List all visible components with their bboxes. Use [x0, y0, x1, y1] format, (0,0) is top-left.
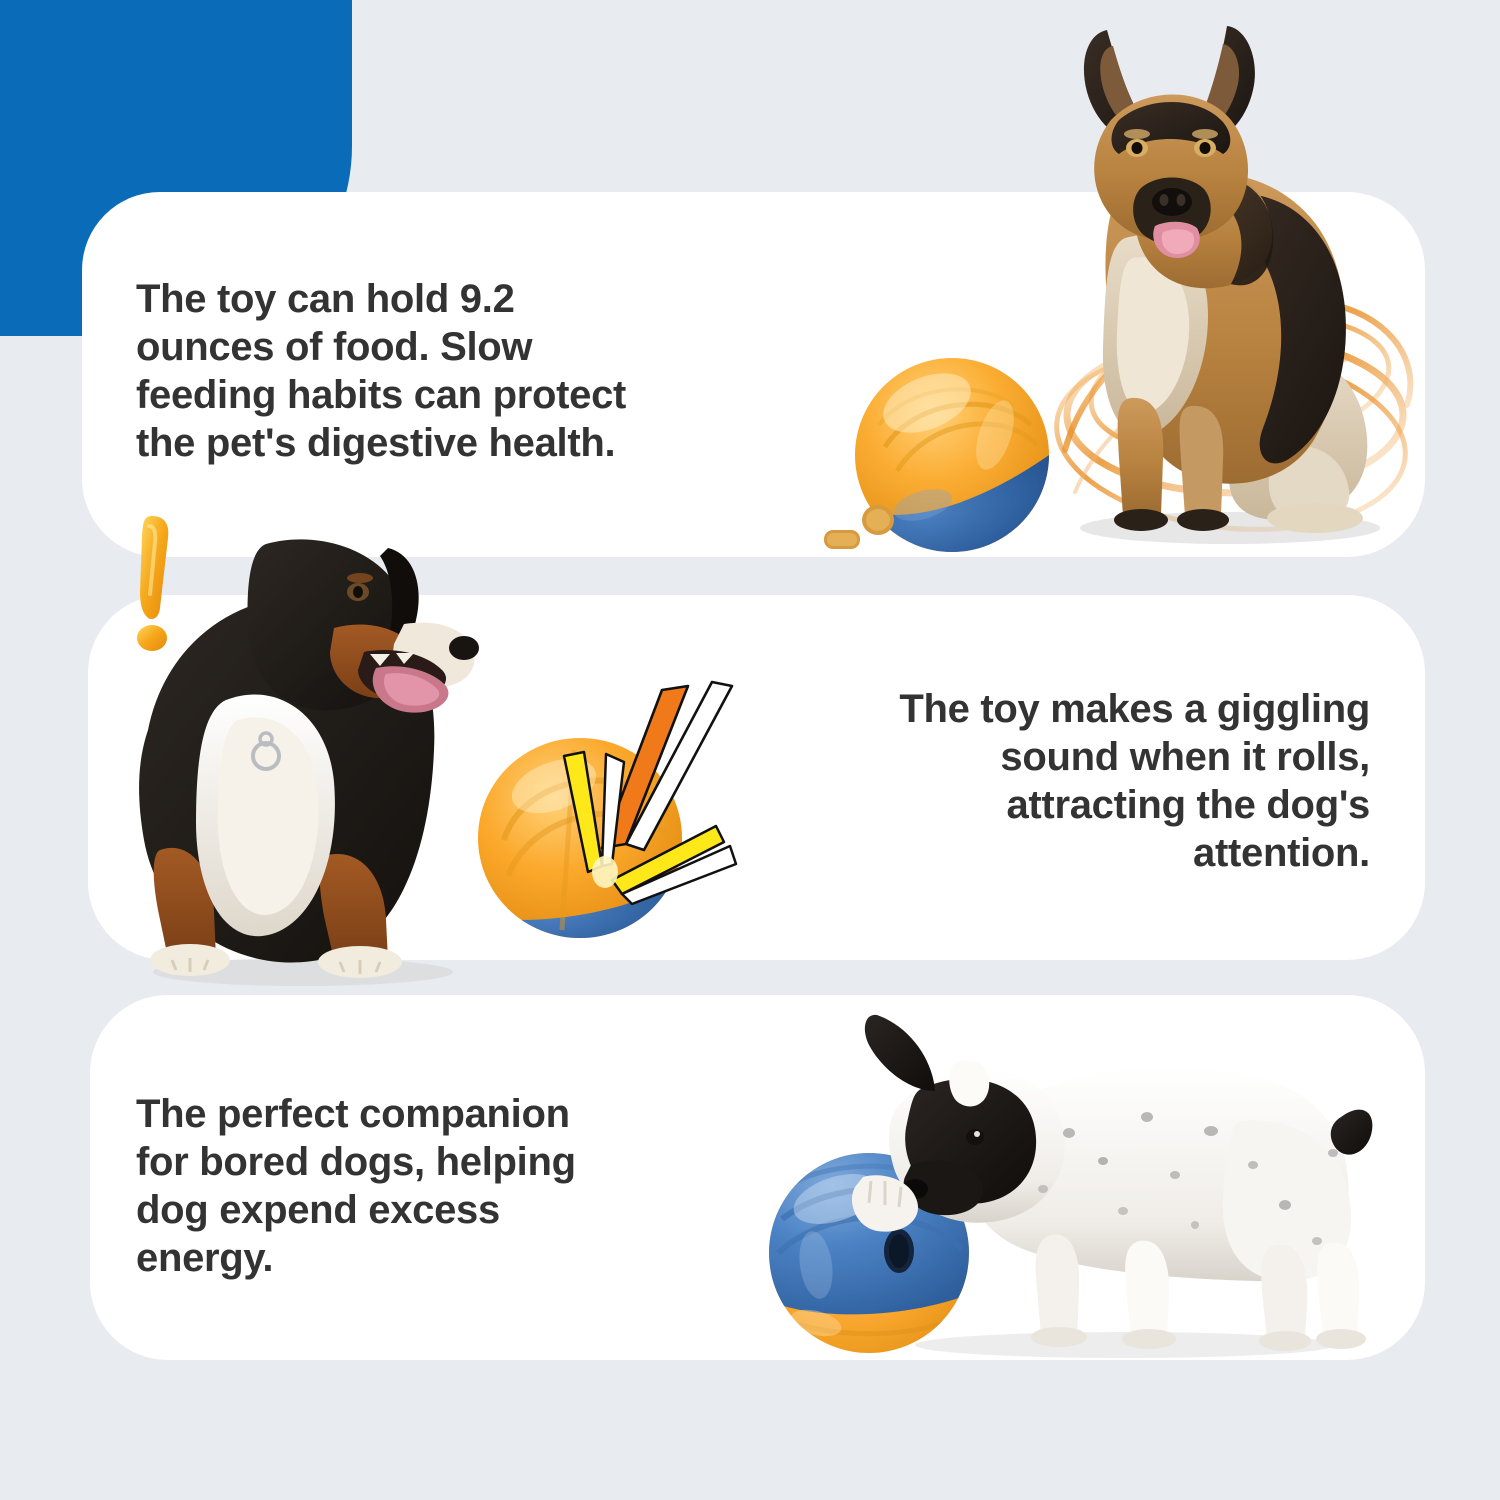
- german-shepherd-photo: [1015, 8, 1435, 556]
- feature-text-boredom-buster: The perfect companion for bored dogs, he…: [136, 1090, 706, 1282]
- feature-text-capacity: The toy can hold 9.2 ounces of food. Slo…: [136, 275, 756, 467]
- french-bulldog-photo: [855, 1005, 1375, 1360]
- feature-text-giggle-sound: The toy makes a giggling sound when it r…: [770, 685, 1370, 877]
- sound-burst-icon: [462, 640, 772, 960]
- kibble-pieces-icon: [810, 500, 920, 555]
- exclamation-mark-icon: [118, 512, 196, 652]
